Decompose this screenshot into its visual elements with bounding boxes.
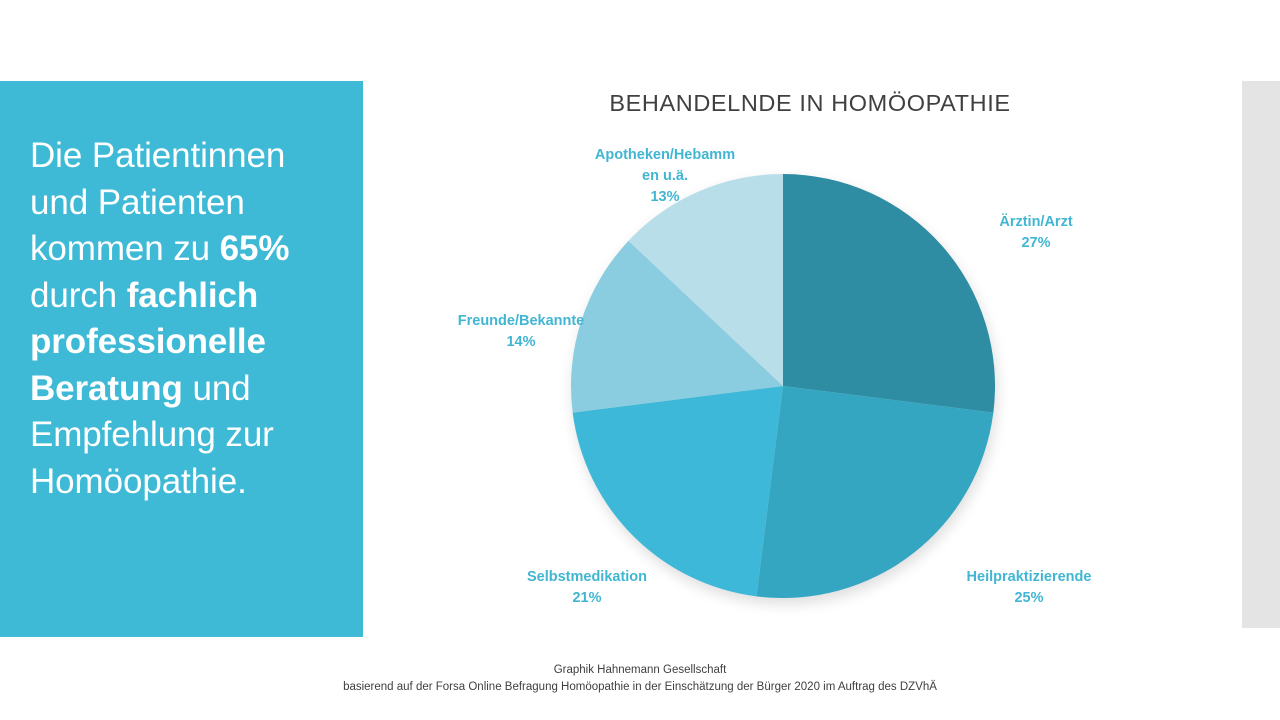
pie-label-freunde-bekannte: Freunde/Bekannte 14% [428, 290, 614, 374]
pie-label-aerztin-arzt-name: Ärztin/Arzt [999, 214, 1072, 230]
pie-label-selbstmedikation-value: 21% [494, 588, 680, 609]
pie-label-selbstmedikation-name: Selbstmedikation [527, 569, 647, 585]
pie-label-apotheken-name: Apotheken/Hebamm en u.ä. [595, 147, 735, 184]
chart-title: BEHANDELNDE IN HOMÖOPATHIE [380, 90, 1240, 117]
callout-text: Die Patientinnen und Patienten kommen zu… [30, 133, 335, 505]
pie-label-freunde-bekannte-value: 14% [428, 332, 614, 353]
pie-chart-container: BEHANDELNDE IN HOMÖOPATHIE Apotheken/Heb… [380, 81, 1240, 641]
pie-graphic [568, 171, 998, 601]
pie-label-selbstmedikation: Selbstmedikation 21% [494, 546, 680, 630]
slide-canvas: Die Patientinnen und Patienten kommen zu… [0, 0, 1280, 720]
footnote-line-1: Graphik Hahnemann Gesellschaft [330, 662, 950, 679]
pie-label-heilpraktizierende: Heilpraktizierende 25% [936, 546, 1122, 630]
pie-label-apotheken-value: 13% [577, 187, 753, 208]
pie-label-aerztin-arzt: Ärztin/Arzt 27% [948, 191, 1124, 275]
pie-label-heilpraktizierende-value: 25% [936, 588, 1122, 609]
source-footnote: Graphik Hahnemann Gesellschaft basierend… [330, 662, 950, 696]
pie-label-freunde-bekannte-name: Freunde/Bekannte [458, 313, 585, 329]
pie-label-apotheken: Apotheken/Hebamm en u.ä. 13% [577, 124, 753, 229]
pie-label-aerztin-arzt-value: 27% [948, 233, 1124, 254]
right-decorative-strip [1242, 81, 1280, 628]
pie-slices-svg [568, 171, 998, 601]
footnote-line-2: basierend auf der Forsa Online Befragung… [330, 679, 950, 696]
callout-panel: Die Patientinnen und Patienten kommen zu… [0, 81, 363, 637]
pie-label-heilpraktizierende-name: Heilpraktizierende [967, 569, 1092, 585]
